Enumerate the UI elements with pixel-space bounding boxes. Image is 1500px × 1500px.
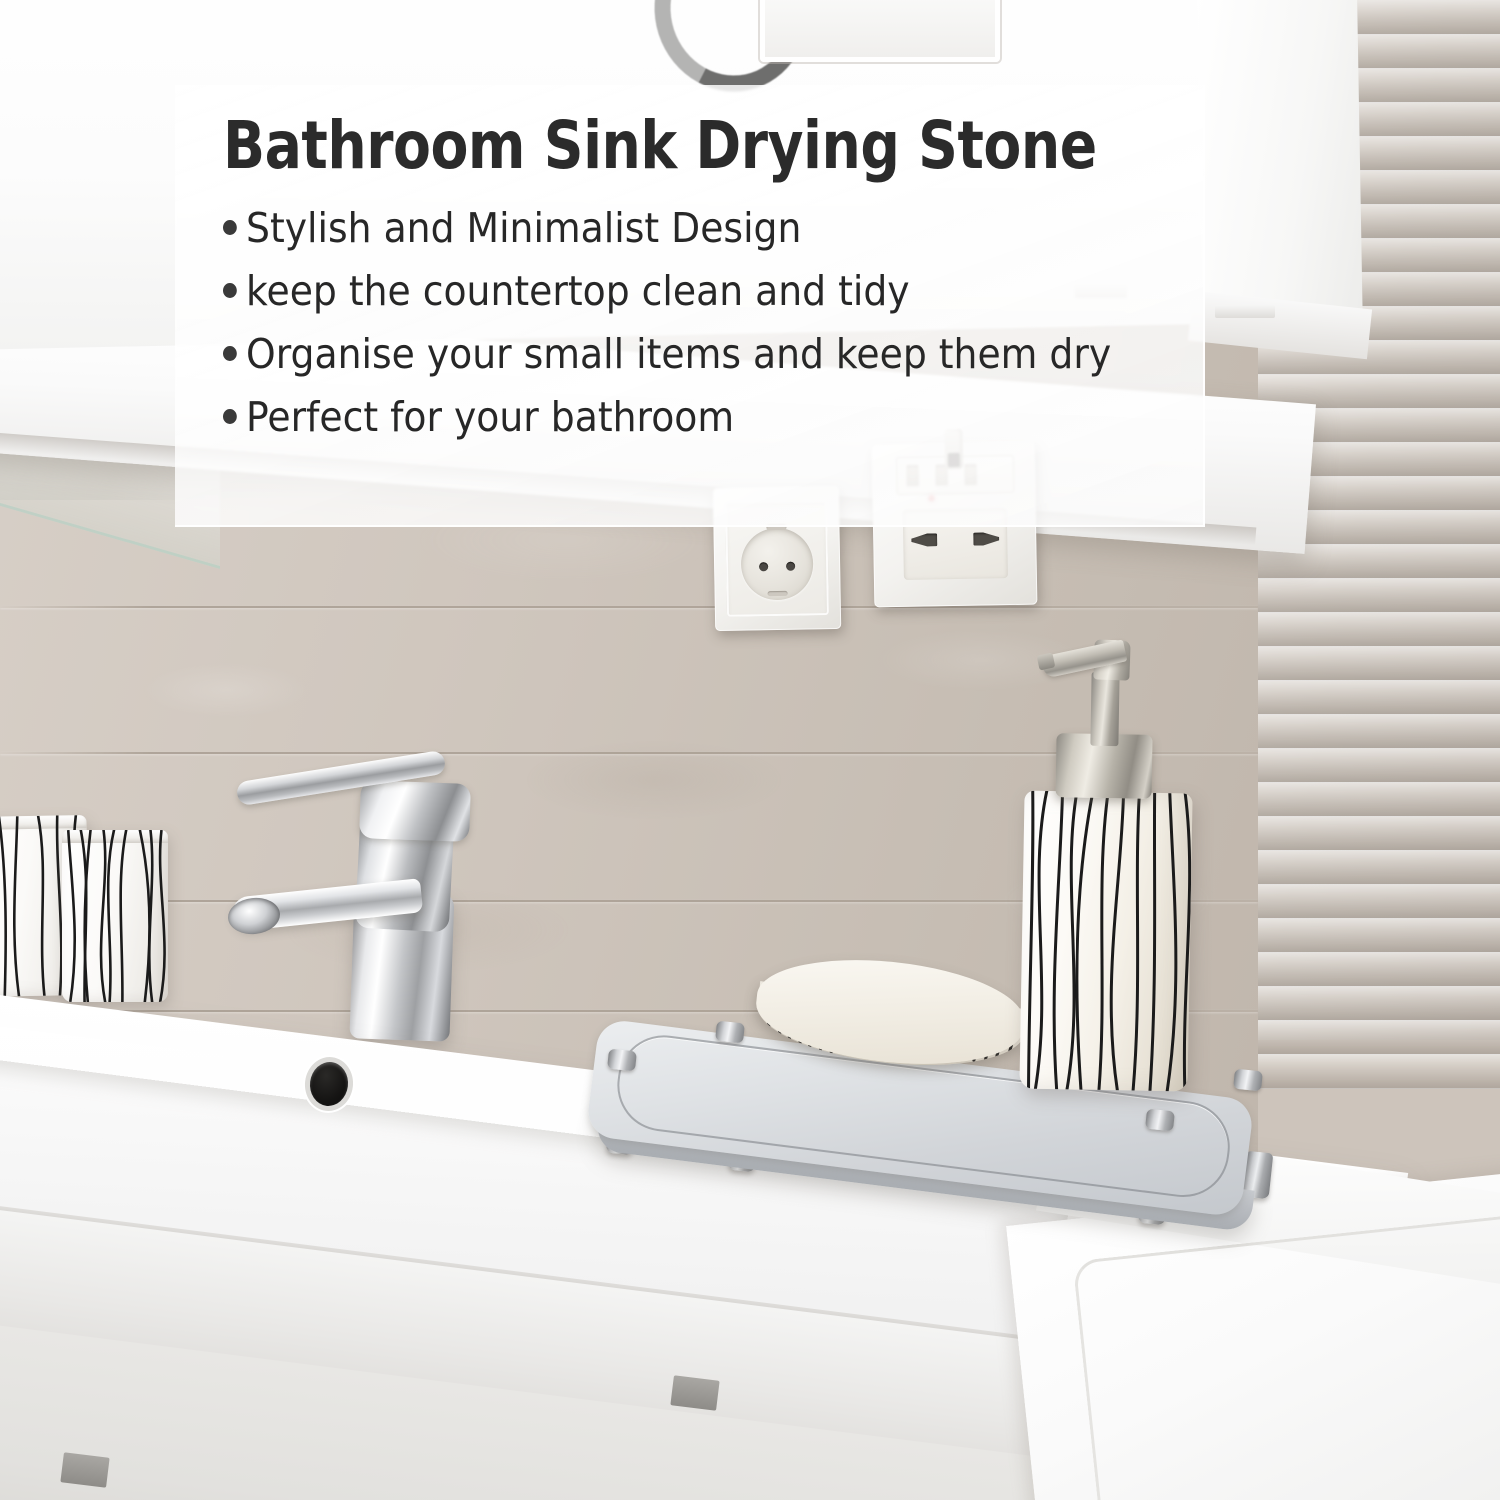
ceramic-stripe	[1119, 792, 1154, 1091]
feature-bullet-list: Stylish and Minimalist Designkeep the co…	[223, 197, 1188, 449]
bathtub-inner-edge	[1072, 1216, 1500, 1500]
ceramic-stripe	[1149, 793, 1184, 1092]
ceramic-stripe	[1104, 792, 1139, 1091]
wall-rib	[1258, 782, 1500, 817]
page-title: Bathroom Sink Drying Stone	[223, 110, 1097, 182]
ceramic-stripe	[1019, 791, 1047, 1091]
grout-line	[0, 606, 1258, 608]
ceramic-stripe	[22, 816, 55, 997]
feature-bullet-item: Stylish and Minimalist Design	[223, 197, 1111, 260]
socket-slot	[911, 533, 937, 546]
ceramic-stripe	[1134, 793, 1169, 1092]
wall-rib	[1258, 918, 1500, 953]
feature-bullet-item: Organise your small items and keep them …	[223, 323, 1111, 386]
wall-rib	[1258, 816, 1500, 851]
bullet-dot-icon	[223, 346, 237, 361]
bullet-dot-icon	[223, 283, 237, 298]
tray-post	[1233, 1069, 1263, 1092]
ceramic-stripe	[1073, 791, 1108, 1091]
tray-post	[715, 1021, 745, 1044]
socket-slot	[973, 532, 999, 545]
wall-rib	[1258, 714, 1500, 749]
feature-bullet-label: Stylish and Minimalist Design	[246, 197, 801, 260]
ceramic-stripe	[112, 830, 142, 1002]
wall-rib	[1258, 850, 1500, 885]
wall-rib	[1258, 578, 1500, 613]
marketing-text-panel: Bathroom Sink Drying Stone Stylish and M…	[175, 85, 1205, 527]
outlet-pin	[786, 562, 795, 571]
wall-rib	[1258, 646, 1500, 681]
wall-rib	[1258, 986, 1500, 1021]
dispenser-stem	[1090, 672, 1119, 746]
vanity-handle[interactable]	[60, 1452, 109, 1487]
tumbler-rim	[62, 830, 168, 843]
ceramic-stripe	[1043, 791, 1078, 1091]
feature-bullet-item: keep the countertop clean and tidy	[223, 260, 1111, 323]
ceramic-stripe	[1027, 791, 1062, 1091]
cabinet-handle[interactable]	[1215, 305, 1275, 318]
wall-rib	[1258, 680, 1500, 715]
ceramic-stripe	[62, 830, 83, 1002]
wall-rib	[1258, 1020, 1500, 1055]
ceramic-stripe	[1088, 792, 1123, 1092]
soap-dispenser	[1019, 791, 1192, 1092]
bullet-dot-icon	[223, 409, 237, 424]
ceramic-stripe	[135, 830, 165, 1002]
product-photo-scene: Bathroom Sink Drying Stone Stylish and M…	[0, 0, 1500, 1500]
wall-rib	[1258, 884, 1500, 919]
ceramic-tumbler	[62, 830, 168, 1002]
tray-post	[1145, 1109, 1175, 1132]
tray-post	[607, 1049, 637, 1072]
ceramic-stripe	[100, 830, 130, 1002]
outlet-earth-clip	[768, 591, 788, 596]
wall-rib	[1258, 748, 1500, 783]
ceramic-stripe	[124, 830, 154, 1002]
ceramic-stripe	[1058, 791, 1093, 1091]
ceramic-stripe	[0, 816, 16, 997]
feature-bullet-label: Organise your small items and keep them …	[246, 323, 1111, 386]
ceramic-stripe	[65, 830, 95, 1002]
cabinet-right	[1197, 0, 1363, 341]
ceramic-stripe	[147, 830, 168, 1002]
bullet-dot-icon	[223, 220, 237, 235]
feature-bullet-label: keep the countertop clean and tidy	[246, 260, 910, 323]
wall-rib	[1258, 1054, 1500, 1089]
feature-bullet-label: Perfect for your bathroom	[246, 386, 734, 449]
wall-rib	[1258, 952, 1500, 987]
tumbler-rim	[0, 815, 87, 830]
ceramic-stripe	[88, 830, 118, 1002]
ceramic-stripe	[76, 830, 106, 1002]
cabinet-panel	[760, 0, 1000, 62]
feature-bullet-item: Perfect for your bathroom	[223, 386, 1111, 449]
faucet-cartridge-cap	[359, 780, 471, 842]
wall-rib	[1258, 612, 1500, 647]
ceramic-stripe	[3, 816, 36, 997]
vanity-handle[interactable]	[670, 1375, 719, 1410]
